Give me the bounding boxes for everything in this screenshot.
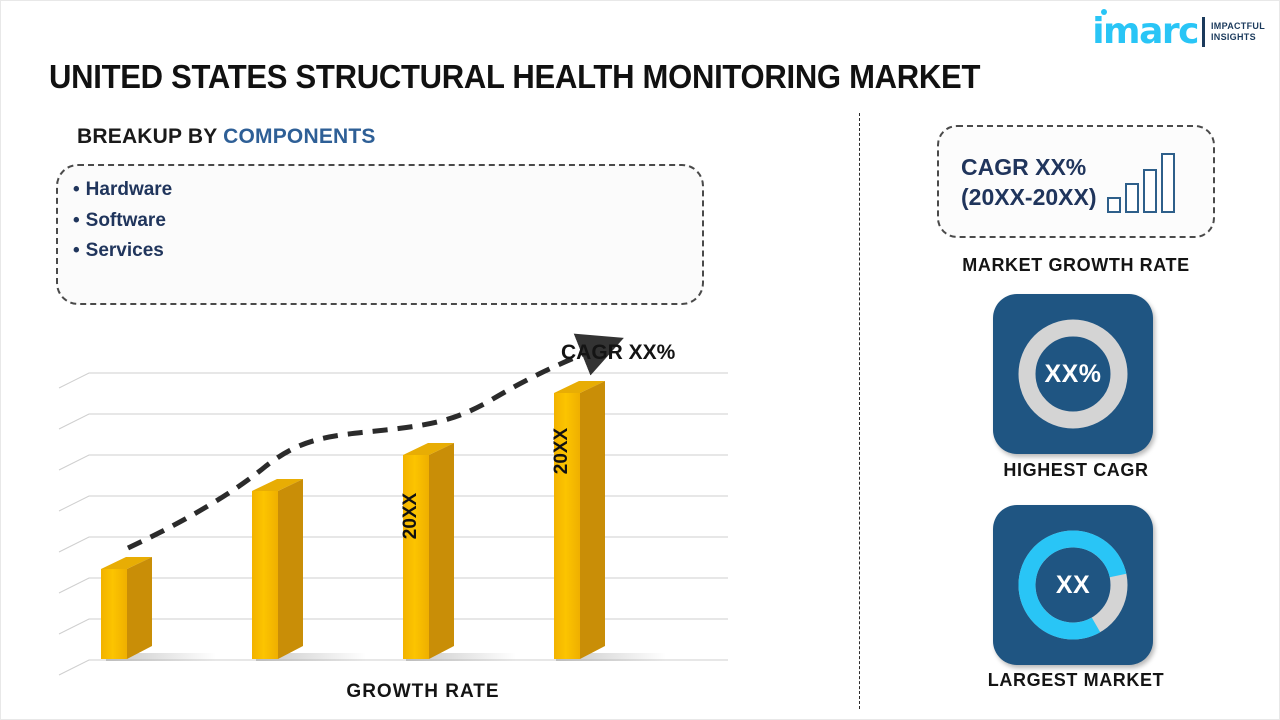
list-item: •Software bbox=[73, 206, 393, 237]
components-list: •Hardware •Software •Services bbox=[73, 175, 393, 267]
logo-divider bbox=[1202, 17, 1205, 47]
cagr-text: CAGR XX% (20XX-20XX) bbox=[961, 152, 1097, 212]
largest-market-value: XX bbox=[993, 505, 1153, 665]
list-item-label: Hardware bbox=[86, 179, 173, 200]
bar-1 bbox=[101, 557, 152, 659]
bar-4: 20XX bbox=[551, 381, 605, 659]
chart-gridlines bbox=[59, 373, 728, 675]
trend-line bbox=[128, 349, 596, 548]
largest-market-caption: LARGEST MARKET bbox=[911, 670, 1241, 691]
chart-canvas: 20XX 20XX bbox=[56, 331, 756, 711]
bar-2 bbox=[252, 479, 303, 659]
breakup-heading-accent: COMPONENTS bbox=[223, 125, 376, 148]
breakup-heading: BREAKUP BY COMPONENTS bbox=[77, 125, 376, 149]
cagr-line2: (20XX-20XX) bbox=[961, 182, 1097, 212]
cagr-line1: CAGR XX% bbox=[961, 152, 1097, 182]
page-title: UNITED STATES STRUCTURAL HEALTH MONITORI… bbox=[49, 58, 980, 96]
logo-wordmark: imarc bbox=[1092, 15, 1198, 49]
bullet-icon: • bbox=[73, 179, 80, 200]
bar-3: 20XX bbox=[400, 443, 454, 659]
highest-cagr-caption: HIGHEST CAGR bbox=[911, 460, 1241, 481]
bullet-icon: • bbox=[73, 240, 80, 261]
growth-rate-bar-chart: 20XX 20XX bbox=[56, 331, 756, 711]
bar-chart-icon-bar-2 bbox=[1125, 183, 1139, 213]
logo-tagline: IMPACTFUL INSIGHTS bbox=[1211, 21, 1265, 43]
list-item: •Hardware bbox=[73, 175, 393, 206]
logo-wordmark-text: imarc bbox=[1092, 11, 1198, 52]
chart-axis-label: GROWTH RATE bbox=[293, 681, 553, 703]
bullet-icon: • bbox=[73, 210, 80, 231]
logo-tagline-line2: INSIGHTS bbox=[1211, 32, 1265, 43]
breakup-heading-prefix: BREAKUP BY bbox=[77, 125, 223, 148]
list-item-label: Services bbox=[86, 240, 164, 261]
bar-chart-icon-bar-4 bbox=[1161, 153, 1175, 213]
infographic-page: imarc IMPACTFUL INSIGHTS UNITED STATES S… bbox=[0, 0, 1280, 720]
bar-label-4: 20XX bbox=[551, 427, 572, 474]
imarc-logo: imarc IMPACTFUL INSIGHTS bbox=[1092, 13, 1265, 51]
bar-chart-icon-bar-1 bbox=[1107, 197, 1121, 213]
bar-chart-icon-bar-3 bbox=[1143, 169, 1157, 213]
largest-market-tile: XX bbox=[993, 505, 1153, 665]
market-growth-rate-caption: MARKET GROWTH RATE bbox=[911, 255, 1241, 276]
list-item-label: Software bbox=[86, 210, 166, 231]
highest-cagr-value: XX% bbox=[993, 294, 1153, 454]
list-item: •Services bbox=[73, 236, 393, 267]
column-divider bbox=[859, 113, 860, 709]
chart-cagr-label: CAGR XX% bbox=[561, 341, 675, 365]
bar-chart-icon bbox=[1107, 151, 1175, 213]
highest-cagr-tile: XX% bbox=[993, 294, 1153, 454]
bar-label-3: 20XX bbox=[400, 492, 421, 539]
logo-tagline-line1: IMPACTFUL bbox=[1211, 21, 1265, 32]
cagr-card: CAGR XX% (20XX-20XX) bbox=[937, 125, 1215, 238]
